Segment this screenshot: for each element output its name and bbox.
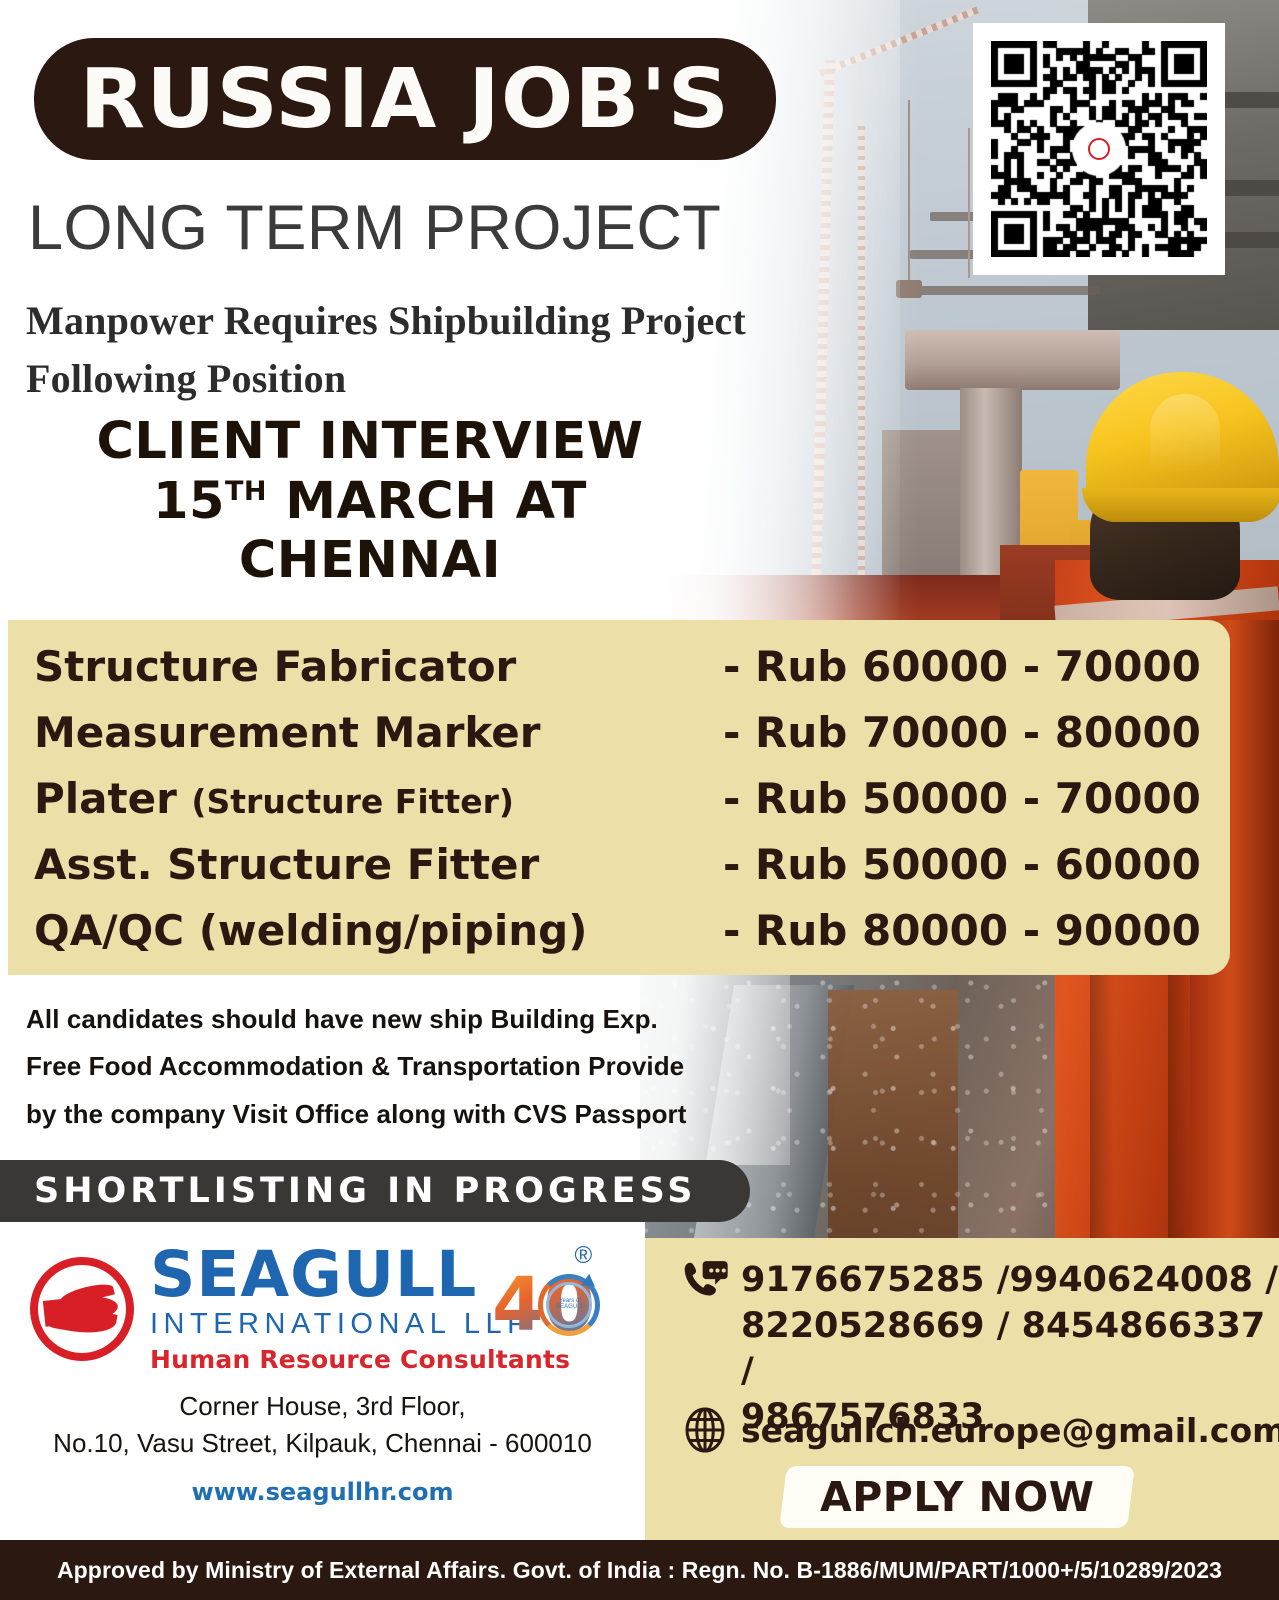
offshore-rig-deck bbox=[905, 330, 1120, 390]
note-line: by the company Visit Office along with C… bbox=[26, 1091, 766, 1138]
address-line-1: Corner House, 3rd Floor, bbox=[0, 1388, 645, 1425]
poster-root: RUSSIA JOB'S LONG TERM PROJECT Manpower … bbox=[0, 0, 1279, 1600]
job-row: Asst. Structure Fitter- Rub 50000 - 6000… bbox=[8, 840, 1230, 906]
job-title: Measurement Marker bbox=[8, 708, 723, 757]
job-salary: - Rub 70000 - 80000 bbox=[723, 708, 1201, 757]
job-salary: - Rub 80000 - 90000 bbox=[723, 906, 1201, 955]
phone-line-1: 9176675285 /9940624008 / bbox=[741, 1258, 1279, 1304]
qr-code-container[interactable] bbox=[973, 23, 1225, 275]
phone-line-2: 8220528669 / 8454866337 / bbox=[741, 1304, 1279, 1395]
email-address[interactable]: seagullch.europe@gmail.com bbox=[741, 1411, 1279, 1450]
anniversary-badge: 40 Years of SEAGULL bbox=[492, 1260, 600, 1360]
job-title-note: (Structure Fitter) bbox=[191, 782, 514, 821]
address-line-2: No.10, Vasu Street, Kilpauk, Chennai - 6… bbox=[0, 1425, 645, 1462]
seagull-logo-icon bbox=[30, 1257, 134, 1361]
note-line: All candidates should have new ship Buil… bbox=[26, 996, 766, 1043]
interview-line-2: 15TH MARCH AT bbox=[0, 472, 740, 532]
anniversary-caption: Years of SEAGULL bbox=[550, 1298, 590, 1310]
job-positions-panel: Structure Fabricator- Rub 60000 - 70000M… bbox=[8, 620, 1230, 975]
hard-hat-brim bbox=[1082, 488, 1279, 522]
seagull-mark-icon bbox=[1088, 138, 1110, 160]
job-title: Plater (Structure Fitter) bbox=[8, 774, 723, 823]
poster-subtitle: LONG TERM PROJECT bbox=[28, 192, 721, 264]
job-row: Measurement Marker- Rub 70000 - 80000 bbox=[8, 708, 1230, 774]
job-salary: - Rub 50000 - 70000 bbox=[723, 774, 1201, 823]
page-title: RUSSIA JOB'S bbox=[80, 52, 731, 147]
interview-month: MARCH AT bbox=[267, 472, 587, 531]
note-line: Free Food Accommodation & Transportation… bbox=[26, 1043, 766, 1090]
company-website-link[interactable]: www.seagullhr.com bbox=[0, 1478, 645, 1506]
job-title: Asst. Structure Fitter bbox=[8, 840, 723, 889]
company-address: Corner House, 3rd Floor, No.10, Vasu Str… bbox=[0, 1388, 645, 1462]
company-footer: SEAGULL ® INTERNATIONAL LLP Human Resour… bbox=[0, 1222, 645, 1540]
candidate-notes: All candidates should have new ship Buil… bbox=[26, 996, 766, 1138]
intro-line-1: Manpower Requires Shipbuilding Project bbox=[26, 297, 746, 344]
contact-panel: 9176675285 /9940624008 / 8220528669 / 84… bbox=[645, 1238, 1279, 1540]
interview-line-3: CHENNAI bbox=[0, 531, 740, 591]
email-contact[interactable]: seagullch.europe@gmail.com bbox=[669, 1406, 1279, 1454]
apply-now-label: APPLY NOW bbox=[820, 1473, 1094, 1521]
job-title: QA/QC (welding/piping) bbox=[8, 906, 723, 955]
date-ordinal: TH bbox=[225, 476, 267, 507]
job-title: Structure Fabricator bbox=[8, 642, 723, 691]
globe-icon bbox=[669, 1406, 741, 1454]
interview-details: CLIENT INTERVIEW 15TH MARCH AT CHENNAI bbox=[0, 412, 740, 591]
rig-platform bbox=[920, 286, 1100, 295]
approval-footer: Approved by Ministry of External Affairs… bbox=[0, 1540, 1279, 1600]
shortlisting-banner: SHORTLISTING IN PROGRESS bbox=[0, 1160, 750, 1222]
poster-title-badge: RUSSIA JOB'S bbox=[34, 38, 776, 160]
qr-code[interactable] bbox=[991, 41, 1207, 257]
qr-center-logo bbox=[1077, 127, 1121, 171]
hard-hat-ridge bbox=[1150, 394, 1220, 472]
job-row: QA/QC (welding/piping)- Rub 80000 - 9000… bbox=[8, 906, 1230, 972]
job-row: Structure Fabricator- Rub 60000 - 70000 bbox=[8, 642, 1230, 708]
intro-line-2: Following Position bbox=[26, 355, 346, 402]
crane-cable bbox=[968, 128, 970, 278]
interview-date: 15 bbox=[153, 472, 225, 531]
job-salary: - Rub 50000 - 60000 bbox=[723, 840, 1201, 889]
phone-chat-icon bbox=[669, 1258, 741, 1308]
approval-text: Approved by Ministry of External Affairs… bbox=[57, 1557, 1222, 1584]
interview-line-1: CLIENT INTERVIEW bbox=[0, 412, 740, 472]
job-row: Plater (Structure Fitter)- Rub 50000 - 7… bbox=[8, 774, 1230, 840]
job-salary: - Rub 60000 - 70000 bbox=[723, 642, 1201, 691]
shortlisting-label: SHORTLISTING IN PROGRESS bbox=[0, 1171, 696, 1211]
company-logo-row: SEAGULL ® INTERNATIONAL LLP Human Resour… bbox=[30, 1244, 570, 1374]
apply-now-button[interactable]: APPLY NOW bbox=[779, 1466, 1135, 1528]
